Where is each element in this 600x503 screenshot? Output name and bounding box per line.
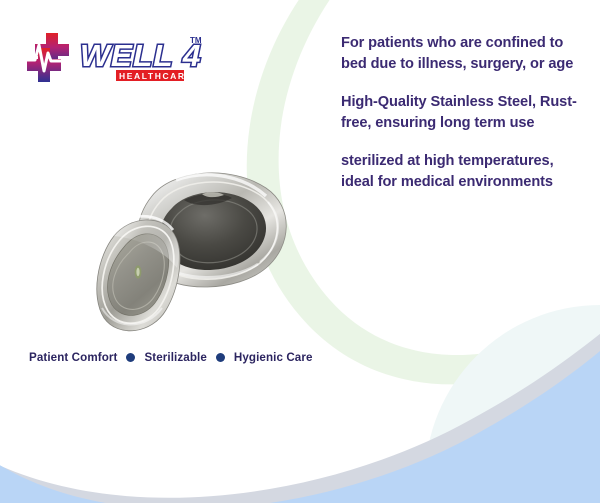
feature-patient-comfort: Patient Comfort bbox=[29, 351, 117, 364]
marketing-copy: For patients who are confined to bed due… bbox=[341, 33, 589, 193]
bullet-dot-icon bbox=[126, 353, 135, 362]
copy-block-2: High-Quality Stainless Steel, Rust-free,… bbox=[341, 92, 589, 134]
poster-canvas: WELL 4 TM HEALTHCARE bbox=[0, 0, 600, 503]
medical-cross-heartbeat-icon bbox=[22, 32, 72, 84]
bullet-dot-icon bbox=[216, 353, 225, 362]
copy-block-1: For patients who are confined to bed due… bbox=[341, 33, 589, 75]
copy-block-3: sterilized at high temperatures, ideal f… bbox=[341, 151, 589, 193]
product-image-stainless-steel-bedpan-pair bbox=[80, 158, 295, 333]
feature-sterilizable: Sterilizable bbox=[144, 351, 206, 364]
feature-strip: Patient Comfort Sterilizable Hygienic Ca… bbox=[29, 351, 313, 364]
brand-name-text: WELL 4 bbox=[80, 38, 201, 73]
brand-wordmark: WELL 4 TM HEALTHCARE bbox=[78, 30, 203, 86]
feature-hygienic-care: Hygienic Care bbox=[234, 351, 313, 364]
brand-logo: WELL 4 TM HEALTHCARE bbox=[22, 28, 207, 88]
pale-teal-circle bbox=[425, 305, 600, 503]
gray-wave-shape bbox=[0, 318, 600, 503]
brand-tagline-text: HEALTHCARE bbox=[119, 71, 193, 81]
brand-trademark-text: TM bbox=[190, 36, 202, 45]
bedpan-inverted bbox=[97, 216, 180, 331]
